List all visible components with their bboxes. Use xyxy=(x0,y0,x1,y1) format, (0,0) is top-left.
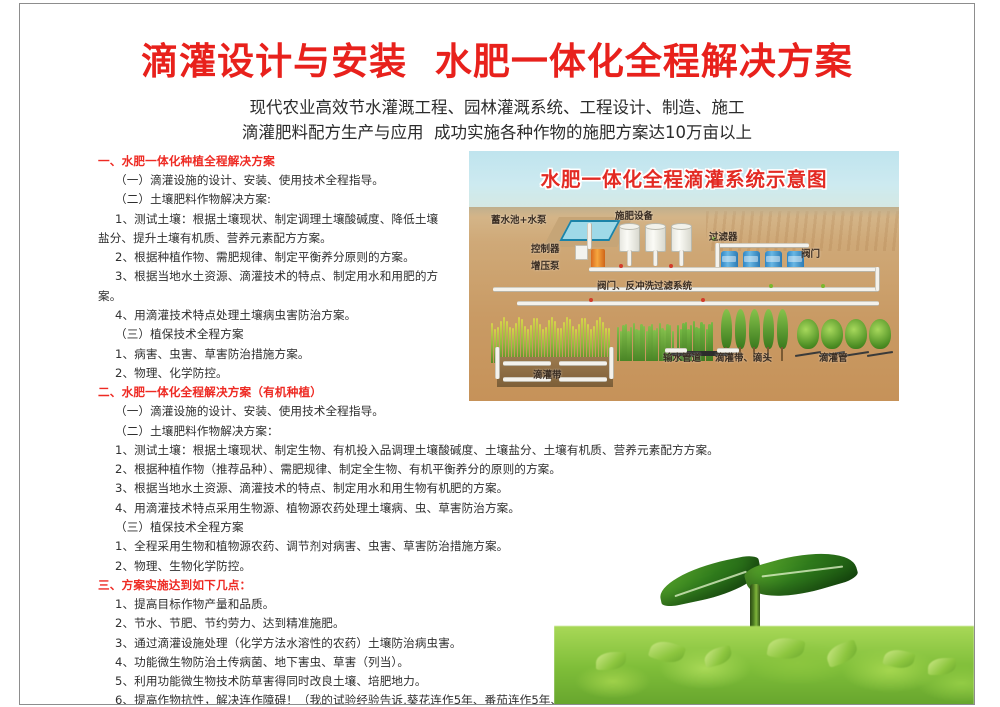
tank-downpipe xyxy=(653,250,658,266)
section-line: 3、通过滴灌设施处理（化学方法水溶性的农药）土壤防治病虫害。 xyxy=(98,634,698,653)
bush xyxy=(797,319,819,349)
valve-indicator-red xyxy=(619,264,623,268)
moss-leaf xyxy=(928,658,956,675)
valve-indicator-red xyxy=(701,298,705,302)
leaf-vein xyxy=(762,566,844,578)
supply-pipe-elbow xyxy=(875,267,880,291)
diagram-label: 滴灌管 xyxy=(819,350,848,364)
section-line: （二）土壤肥料作物解决方案： xyxy=(98,422,698,441)
sapling xyxy=(777,309,788,349)
main-supply-pipe xyxy=(589,267,879,272)
tank-downpipe xyxy=(679,250,684,266)
section-line: 2、根据种植作物（推荐品种）、需肥规律、制定全生物、有机平衡养分的原则的方案。 xyxy=(98,460,698,479)
bush xyxy=(845,319,867,349)
bush xyxy=(821,319,843,349)
valve-indicator-green xyxy=(821,284,825,288)
drip-tape-line xyxy=(559,361,607,366)
drip-tape-line xyxy=(559,377,607,382)
poster-header: 滴灌设计与安装 水肥一体化全程解决方案 现代农业高效节水灌溉工程、园林灌溉系统、… xyxy=(20,4,974,145)
valve-indicator-red xyxy=(589,298,593,302)
diagram-label: 过滤器 xyxy=(709,229,738,243)
valve-indicator-green xyxy=(769,284,773,288)
section-line: 1、提高目标作物产量和品质。 xyxy=(98,595,698,614)
crop-plot-wheat xyxy=(491,303,609,363)
section-line: 2、物理、生物化学防控。 xyxy=(98,557,698,576)
sprout-right-leaf xyxy=(743,540,860,609)
diagram-title: 水肥一体化全程滴灌系统示意图 xyxy=(469,163,899,192)
diagram-label: 施肥设备 xyxy=(615,208,653,222)
tank-downpipe xyxy=(627,250,632,266)
diagram-label: 滴灌带、滴头 xyxy=(715,350,772,364)
section-line: （一）滴灌设施的设计、安装、使用技术全程指导。 xyxy=(98,402,698,421)
moss-leaf xyxy=(702,645,733,668)
fertilizer-tank-icon xyxy=(645,225,666,252)
diagram-label: 输水管道 xyxy=(663,350,701,364)
sapling xyxy=(763,309,774,349)
filter-top-manifold xyxy=(717,243,809,248)
sapling xyxy=(721,309,732,349)
moss-leaf xyxy=(882,647,915,672)
page-title: 滴灌设计与安装 水肥一体化全程解决方案 xyxy=(20,4,974,84)
drip-tape-riser xyxy=(609,347,614,379)
diagram-label: 控制器 xyxy=(531,241,560,255)
drip-line xyxy=(795,351,821,357)
valve-indicator-red xyxy=(669,264,673,268)
section-line: 5、利用功能微生物技术防草害得同时改良土壤、培肥地力。 xyxy=(98,672,698,691)
sapling xyxy=(735,309,746,349)
diagram-label: 增压泵 xyxy=(531,258,560,272)
diagram-label: 阀门、反冲洗过滤系统 xyxy=(597,278,692,292)
section-line: 1、测试土壤：根据土壤现状、制定生物、有机投入品调理土壤酸碱度、土壤盐分、土壤有… xyxy=(98,441,698,460)
bush xyxy=(869,319,891,349)
sapling-trunk xyxy=(781,347,783,361)
section-heading: 三、方案实施达到如下几点： xyxy=(98,576,698,595)
sprout-stem xyxy=(750,584,760,676)
drip-line xyxy=(867,351,893,357)
booster-pump-icon xyxy=(591,249,605,269)
section-line: 4、用滴灌技术特点采用生物源、植物源农药处理土壤病、虫、草害防治方案。 xyxy=(98,499,698,518)
fertilizer-tank-icon xyxy=(671,225,692,252)
subtitle-line-1: 现代农业高效节水灌溉工程、园林灌溉系统、工程设计、制造、施工 xyxy=(20,95,974,120)
diagram-label: 滴灌带 xyxy=(533,367,562,381)
moss-leaf xyxy=(766,635,805,662)
poster-container: 滴灌设计与安装 水肥一体化全程解决方案 现代农业高效节水灌溉工程、园林灌溉系统、… xyxy=(19,3,975,705)
poster-subtitle: 现代农业高效节水灌溉工程、园林灌溉系统、工程设计、制造、施工 滴灌肥料配方生产与… xyxy=(20,95,974,145)
sapling xyxy=(749,309,760,349)
reservoir-suction-pipe xyxy=(587,223,592,249)
section-line: 4、功能微生物防治土传病菌、地下害虫、草害（列当）。 xyxy=(98,653,698,672)
section-line: 6、提高作物抗性，解决连作障碍！（我的试验经验告诉,葵花连作5年、番茄连作5年、… xyxy=(98,691,698,705)
subtitle-line-2: 滴灌肥料配方生产与应用 成功实施各种作物的施肥方案达10万亩以上 xyxy=(20,120,974,145)
section-line: 2、节水、节肥、节约劳力、达到精准施肥。 xyxy=(98,614,698,633)
section-line: 3、根据当地水土资源、滴灌技术的特点、制定用水和用生物有机肥的方案。 xyxy=(98,479,698,498)
section-line: （三）植保技术全程方案 xyxy=(98,518,698,537)
section-line: 1、全程采用生物和植物源农药、调节剂对病害、虫害、草害防治措施方案。 xyxy=(98,537,698,556)
drip-tape-line xyxy=(503,361,551,366)
drip-tape-riser xyxy=(495,347,500,379)
moss-leaf xyxy=(824,639,861,668)
drip-irrigation-system-diagram: 水肥一体化全程滴灌系统示意图 蓄水池+水泵施肥设备过滤器阀门控制器增压泵阀门、反… xyxy=(469,151,899,401)
fertilizer-tank-icon xyxy=(619,225,640,252)
diagram-label: 蓄水池+水泵 xyxy=(491,212,546,226)
diagram-label: 阀门 xyxy=(801,246,820,260)
